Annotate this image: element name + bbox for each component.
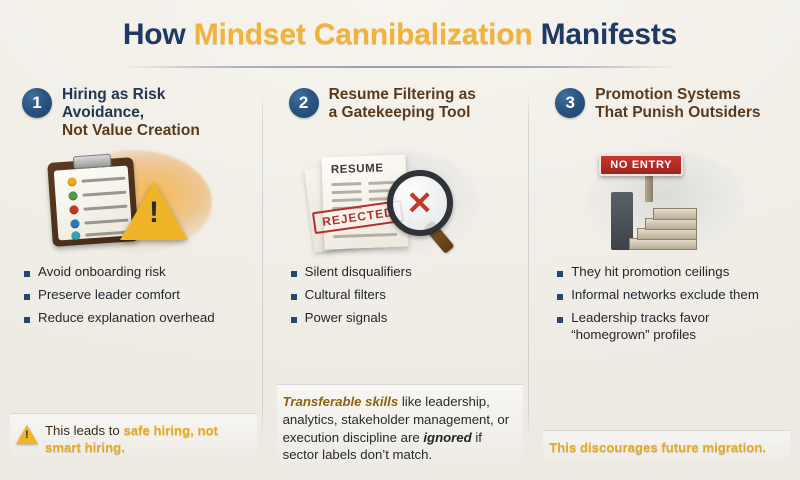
column-3-number-badge: 3	[555, 88, 585, 118]
column-3-illustration: NO ENTRY	[549, 148, 784, 256]
bullet-marker-icon	[557, 271, 563, 277]
list-item: Reduce explanation overhead	[24, 310, 251, 326]
list-item: Preserve leader comfort	[24, 287, 251, 303]
list-item: Avoid onboarding risk	[24, 264, 251, 280]
column-2-heading: Resume Filtering as a Gatekeeping Tool	[329, 86, 476, 122]
column-2-bullet-list: Silent disqualifiers Cultural filters Po…	[283, 264, 518, 327]
column-2-illustration: RESUME REJECTED	[283, 148, 518, 256]
column-3-header: 3 Promotion Systems That Punish Outsider…	[549, 86, 784, 144]
column-3-heading: Promotion Systems That Punish Outsiders	[595, 86, 760, 122]
column-1-bullet-list: Avoid onboarding risk Preserve leader co…	[16, 264, 251, 327]
list-item: Power signals	[291, 310, 518, 326]
warning-triangle-icon	[16, 425, 38, 444]
column-1: 1 Hiring as Risk Avoidance, Not Value Cr…	[0, 86, 267, 480]
column-1-heading-line-2: Avoidance,	[62, 104, 144, 121]
bullet-marker-icon	[291, 294, 297, 300]
column-2: 2 Resume Filtering as a Gatekeeping Tool…	[267, 86, 534, 480]
list-item: They hit promotion ceilings	[557, 264, 784, 280]
title-underline-rule	[118, 66, 682, 68]
list-item: Informal networks exclude them	[557, 287, 784, 303]
bullet-marker-icon	[24, 317, 30, 323]
column-2-heading-line-2: a Gatekeeping Tool	[329, 104, 471, 121]
title-highlight: Mindset Cannibalization	[194, 18, 533, 51]
column-1-header: 1 Hiring as Risk Avoidance, Not Value Cr…	[16, 86, 251, 144]
bullet-text: Avoid onboarding risk	[38, 264, 166, 280]
bullet-text: They hit promotion ceilings	[571, 264, 729, 280]
list-item: Leadership tracks favor “homegrown” prof…	[557, 310, 784, 342]
warning-triangle-icon	[120, 182, 188, 240]
title-part-2: Manifests	[532, 18, 677, 51]
column-3-bullet-list: They hit promotion ceilings Informal net…	[549, 264, 784, 343]
column-2-number-badge: 2	[289, 88, 319, 118]
column-2-header: 2 Resume Filtering as a Gatekeeping Tool	[283, 86, 518, 144]
bullet-text: Cultural filters	[305, 287, 386, 303]
column-1-heading-line-3: Not Value Creation	[62, 122, 200, 139]
sign-post	[645, 176, 653, 202]
column-1-illustration	[16, 148, 251, 256]
column-3-note: This discourages future migration.	[543, 430, 790, 464]
bullet-text: Preserve leader comfort	[38, 287, 180, 303]
page-title: How Mindset Cannibalization Manifests	[0, 18, 800, 52]
column-1-note: This leads to safe hiring, not smart hir…	[10, 413, 257, 464]
list-item: Silent disqualifiers	[291, 264, 518, 280]
bullet-text: Leadership tracks favor “homegrown” prof…	[571, 310, 784, 342]
bullet-marker-icon	[557, 294, 563, 300]
bullet-marker-icon	[24, 271, 30, 277]
column-2-note-emphasis-2: ignored	[423, 430, 471, 445]
bullet-text: Silent disqualifiers	[305, 264, 412, 280]
column-3-heading-line-1: Promotion Systems	[595, 86, 741, 103]
column-2-heading-line-1: Resume Filtering as	[329, 86, 476, 103]
bullet-marker-icon	[291, 271, 297, 277]
column-3: 3 Promotion Systems That Punish Outsider…	[533, 86, 800, 480]
column-3-note-highlight: This discourages future migration.	[549, 440, 766, 455]
bullet-text: Power signals	[305, 310, 388, 326]
columns-container: 1 Hiring as Risk Avoidance, Not Value Cr…	[0, 86, 800, 480]
column-1-heading-line-1: Hiring as Risk	[62, 86, 165, 103]
column-3-heading-line-2: That Punish Outsiders	[595, 104, 760, 121]
clipboard-clasp	[73, 154, 112, 170]
list-item: Cultural filters	[291, 287, 518, 303]
no-entry-sign: NO ENTRY	[599, 154, 683, 176]
bullet-marker-icon	[557, 317, 563, 323]
staircase-icon	[611, 188, 705, 250]
title-part-1: How	[123, 18, 194, 51]
bullet-text: Informal networks exclude them	[571, 287, 759, 303]
bullet-marker-icon	[24, 294, 30, 300]
column-1-heading: Hiring as Risk Avoidance, Not Value Crea…	[62, 86, 200, 140]
bullet-text: Reduce explanation overhead	[38, 310, 215, 326]
column-1-number-badge: 1	[22, 88, 52, 118]
bullet-marker-icon	[291, 317, 297, 323]
magnifier-x-icon	[387, 170, 453, 236]
resume-label: RESUME	[330, 162, 383, 176]
column-2-note: Transferable skills like leadership, ana…	[277, 384, 524, 472]
column-2-note-emphasis: Transferable skills	[283, 394, 399, 409]
column-1-note-lead: This leads to	[45, 423, 123, 438]
infographic-page: How Mindset Cannibalization Manifests 1 …	[0, 0, 800, 480]
